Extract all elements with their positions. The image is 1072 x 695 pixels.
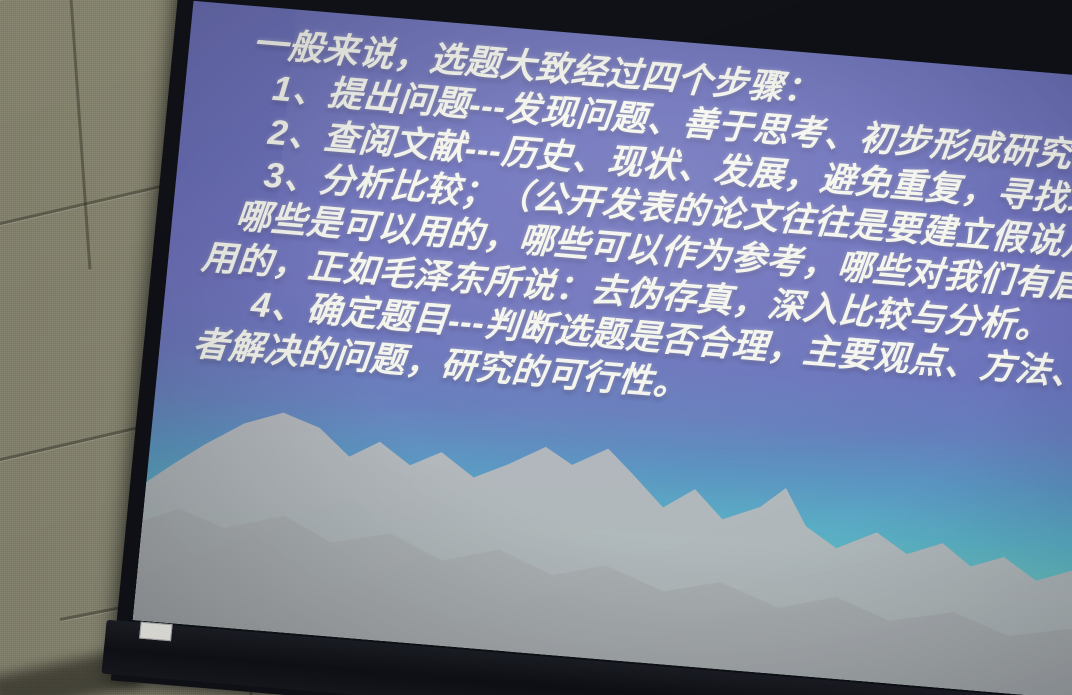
photo-scene: 一般来说，选题大致经过四个步骤： 1、提出问题---发现问题、善于思考、初步形成… (0, 0, 1072, 695)
slide-text-block: 一般来说，选题大致经过四个步骤： 1、提出问题---发现问题、善于思考、初步形成… (191, 22, 1072, 451)
slide-surface: 一般来说，选题大致经过四个步骤： 1、提出问题---发现问题、善于思考、初步形成… (133, 1, 1072, 695)
projection-screen: 一般来说，选题大致经过四个步骤： 1、提出问题---发现问题、善于思考、初步形成… (111, 0, 1072, 695)
screen-label-tag (139, 622, 173, 642)
